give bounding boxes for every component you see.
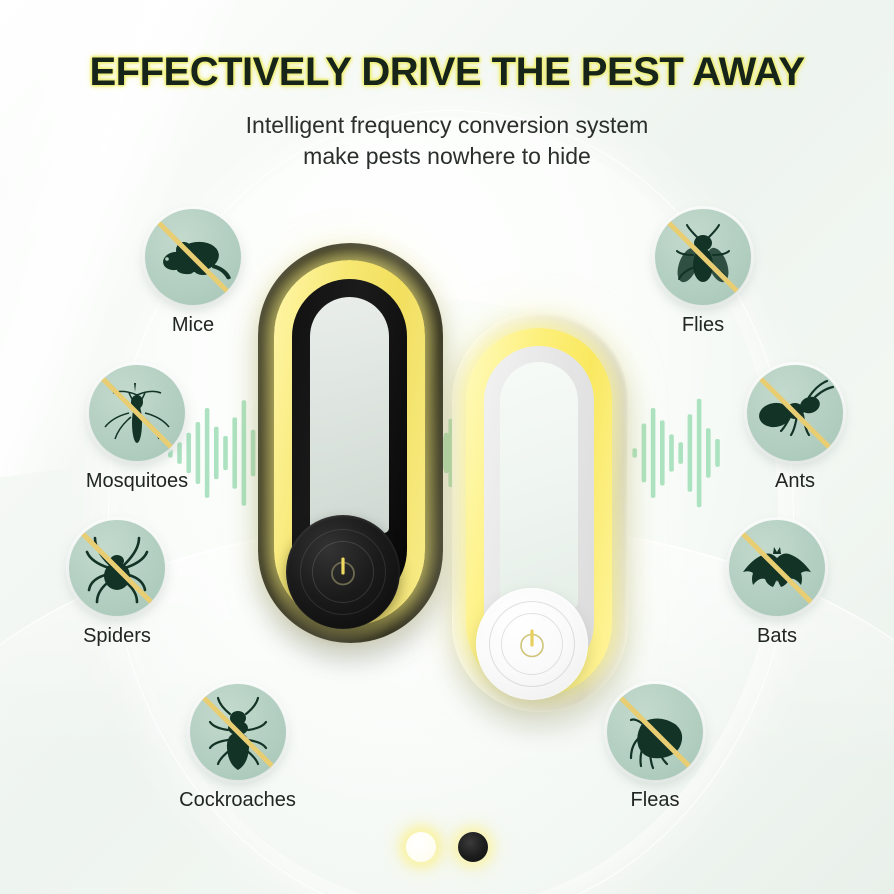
- pest-label-bats: Bats: [722, 625, 832, 648]
- color-swatch-group: [0, 832, 894, 862]
- mouse-icon: [145, 209, 241, 305]
- pest-badge-mosquitoes[interactable]: Mosquitoes: [57, 365, 217, 493]
- subtitle-line-1: Intelligent frequency conversion system: [0, 110, 894, 141]
- pest-badge-mice[interactable]: Mice: [138, 209, 248, 337]
- pest-label-mice: Mice: [138, 314, 248, 337]
- pest-label-ants: Ants: [740, 470, 850, 493]
- pest-badge-ants[interactable]: Ants: [740, 365, 850, 493]
- bat-icon: [729, 520, 825, 616]
- power-icon[interactable]: [326, 551, 360, 594]
- product-infographic: EFFECTIVELY DRIVE THE PEST AWAY Intellig…: [0, 0, 894, 894]
- pest-badge-flies[interactable]: Flies: [648, 209, 758, 337]
- pest-label-mosquitoes: Mosquitoes: [57, 470, 217, 493]
- flea-icon: [607, 684, 703, 780]
- page-subtitle: Intelligent frequency conversion system …: [0, 110, 894, 172]
- mosquito-icon: [89, 365, 185, 461]
- power-icon[interactable]: [515, 623, 549, 666]
- pest-badge-cockroaches[interactable]: Cockroaches: [160, 684, 315, 812]
- page-title: EFFECTIVELY DRIVE THE PEST AWAY: [0, 50, 894, 95]
- pest-badge-fleas[interactable]: Fleas: [600, 684, 710, 812]
- white-device-base: [476, 588, 588, 700]
- pest-label-flies: Flies: [648, 314, 758, 337]
- pest-badge-bats[interactable]: Bats: [722, 520, 832, 648]
- swatch-black[interactable]: [458, 832, 488, 862]
- pest-label-cockroaches: Cockroaches: [160, 789, 315, 812]
- white-device-opening: [500, 362, 578, 608]
- pest-label-spiders: Spiders: [62, 625, 172, 648]
- fly-icon: [655, 209, 751, 305]
- white-repeller[interactable]: [452, 312, 628, 712]
- ant-icon: [747, 365, 843, 461]
- black-device-opening: [310, 297, 389, 533]
- swatch-white[interactable]: [406, 832, 436, 862]
- black-device-base: [286, 515, 400, 629]
- cockroach-icon: [190, 684, 286, 780]
- black-repeller[interactable]: [258, 243, 443, 643]
- spider-icon: [69, 520, 165, 616]
- subtitle-line-2: make pests nowhere to hide: [0, 141, 894, 172]
- pest-label-fleas: Fleas: [600, 789, 710, 812]
- pest-badge-spiders[interactable]: Spiders: [62, 520, 172, 648]
